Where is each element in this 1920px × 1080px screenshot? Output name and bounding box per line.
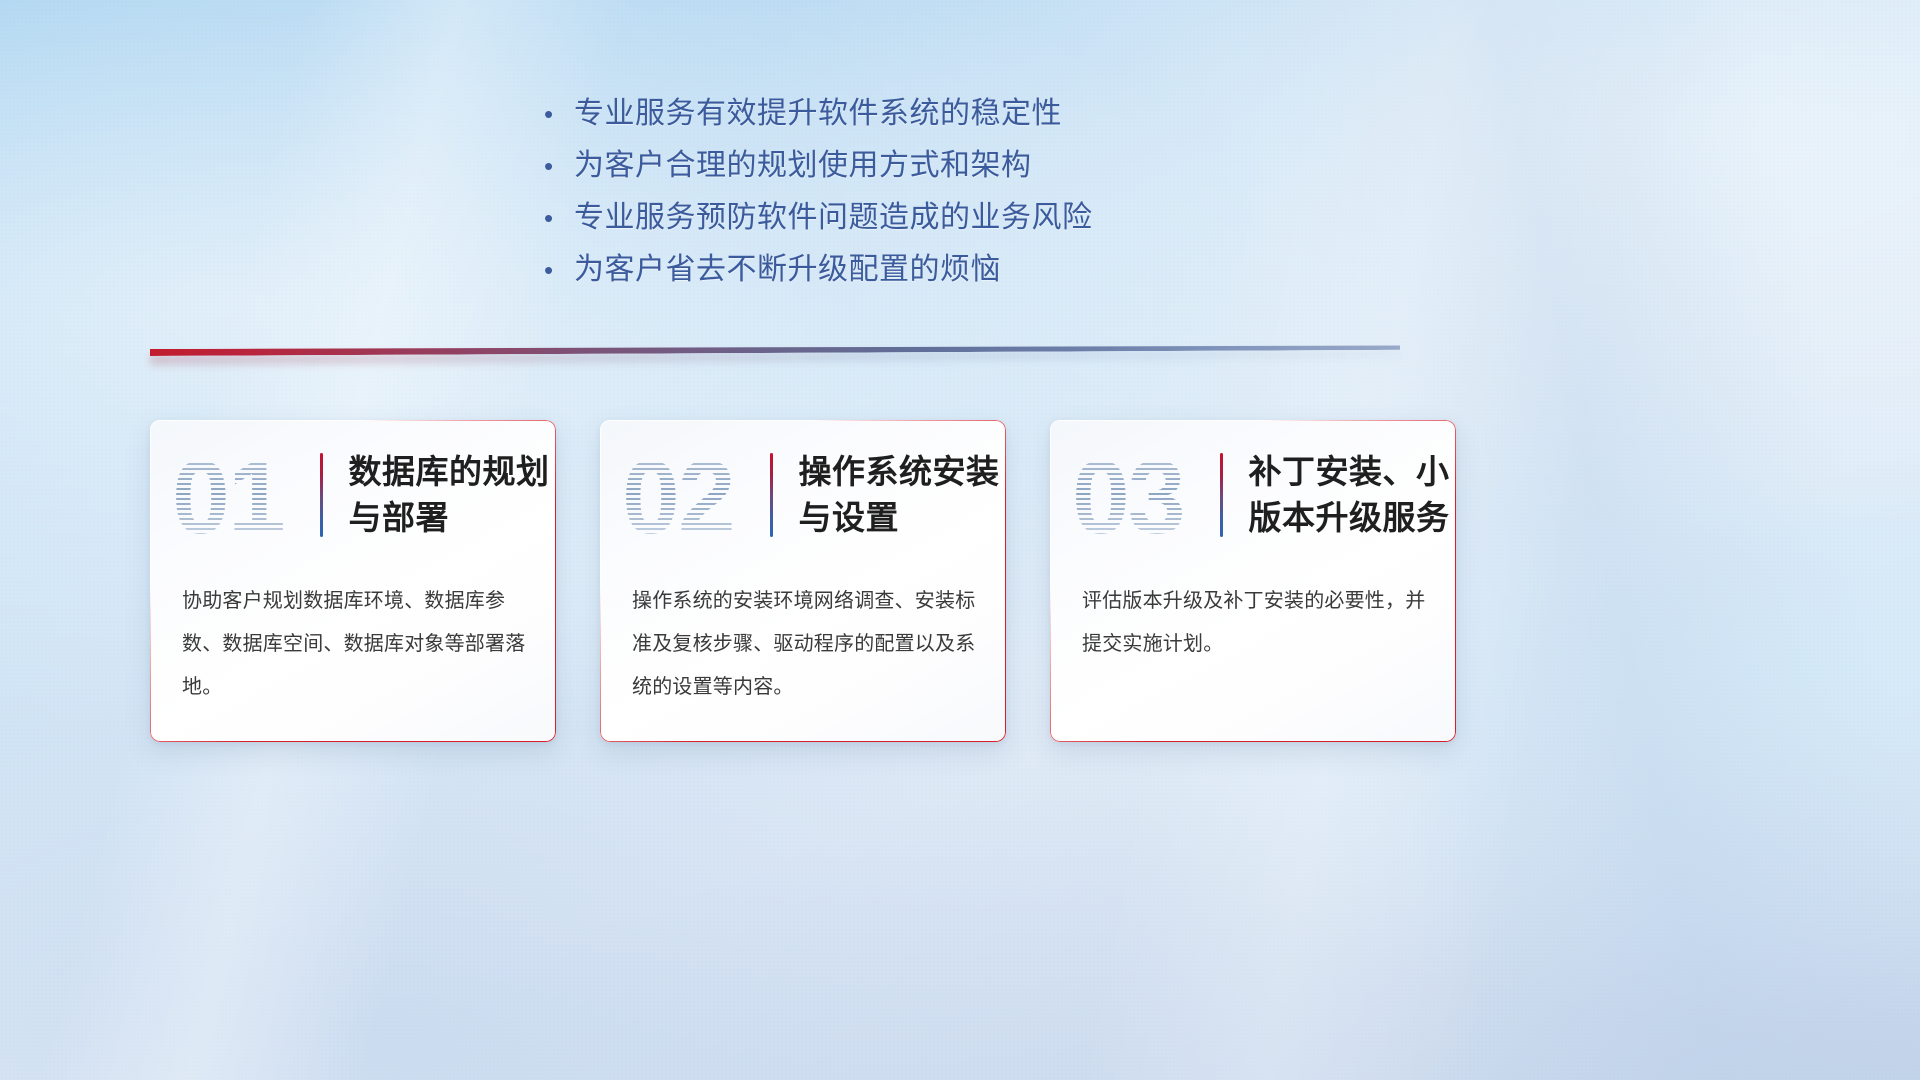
card-title-rule-icon [770,453,773,537]
card-title: 补丁安装、小 版本升级服务 [1249,449,1457,541]
list-item: • 为客户合理的规划使用方式和架构 [540,140,1520,192]
card-header: 02 操作系统安装 与设置 [600,420,1006,570]
card-header: 01 数据库的规划 与部署 [150,420,556,570]
card-number-text: 02 [622,446,734,550]
bullet-dot-icon: • [540,88,574,140]
card-number-watermark: 01 [172,440,320,550]
bullet-text: 为客户省去不断升级配置的烦恼 [574,244,1001,296]
card-title-rule-icon [320,453,323,537]
slide-root: • 专业服务有效提升软件系统的稳定性 • 为客户合理的规划使用方式和架构 • 专… [0,0,1920,1080]
card-body-text: 操作系统的安装环境网络调查、安装标准及复核步骤、驱动程序的配置以及系统的设置等内… [600,570,1006,709]
card-body-text: 协助客户规划数据库环境、数据库参数、数据库空间、数据库对象等部署落地。 [150,570,556,709]
service-card[interactable]: 03 补丁安装、小 版本升级服务 评估版本升级及补丁安装的必要性，并提交实施计划… [1050,420,1456,742]
bullet-dot-icon: • [540,140,574,192]
section-divider [150,346,1400,364]
bullet-text: 为客户合理的规划使用方式和架构 [574,140,1032,192]
service-card[interactable]: 01 数据库的规划 与部署 协助客户规划数据库环境、数据库参数、数据库空间、数据… [150,420,556,742]
bullet-text: 专业服务预防软件问题造成的业务风险 [574,192,1093,244]
service-card[interactable]: 02 操作系统安装 与设置 操作系统的安装环境网络调查、安装标准及复核步骤、驱动… [600,420,1006,742]
card-title: 操作系统安装 与设置 [799,449,1007,541]
list-item: • 专业服务有效提升软件系统的稳定性 [540,88,1520,140]
bullet-dot-icon: • [540,244,574,296]
card-number-text: 01 [172,446,284,550]
service-card-list: 01 数据库的规划 与部署 协助客户规划数据库环境、数据库参数、数据库空间、数据… [150,420,1456,742]
card-title: 数据库的规划 与部署 [349,449,557,541]
list-item: • 为客户省去不断升级配置的烦恼 [540,244,1520,296]
card-number-text: 03 [1072,446,1184,550]
card-number-watermark: 03 [1072,440,1220,550]
card-body-text: 评估版本升级及补丁安装的必要性，并提交实施计划。 [1050,570,1456,666]
card-number-watermark: 02 [622,440,770,550]
bullet-text: 专业服务有效提升软件系统的稳定性 [574,88,1062,140]
list-item: • 专业服务预防软件问题造成的业务风险 [540,192,1520,244]
card-header: 03 补丁安装、小 版本升级服务 [1050,420,1456,570]
benefits-bullet-list: • 专业服务有效提升软件系统的稳定性 • 为客户合理的规划使用方式和架构 • 专… [540,88,1520,296]
bullet-dot-icon: • [540,192,574,244]
card-title-rule-icon [1220,453,1223,537]
